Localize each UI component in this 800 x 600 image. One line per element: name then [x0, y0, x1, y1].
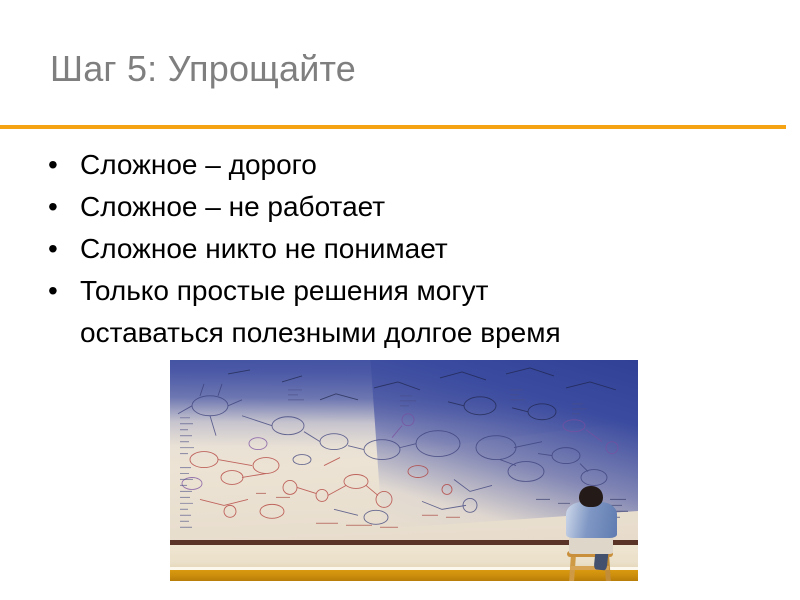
- list-item-label-line2: оставаться полезными долгое время: [80, 312, 746, 354]
- person-head: [579, 486, 603, 507]
- list-item-label: Сложное никто не понимает: [80, 228, 746, 270]
- person-shirt: [566, 502, 617, 538]
- bullet-marker-icon: •: [48, 270, 58, 312]
- page-title: Шаг 5: Упрощайте: [50, 47, 770, 91]
- list-item-label: Сложное – дорого: [80, 144, 746, 186]
- slide: Шаг 5: Упрощайте • Сложное – дорого • Сл…: [0, 0, 800, 600]
- bullet-list: • Сложное – дорого • Сложное – не работа…: [46, 144, 746, 354]
- title-divider-rule: [0, 125, 786, 129]
- list-item-label: Сложное – не работает: [80, 186, 746, 228]
- list-item-label: Только простые решения могут оставаться …: [80, 270, 746, 354]
- bullet-marker-icon: •: [48, 144, 58, 186]
- seated-person: [561, 486, 622, 581]
- list-item: • Сложное – не работает: [46, 186, 746, 228]
- list-item-label-line1: Только простые решения могут: [80, 275, 488, 306]
- bullet-marker-icon: •: [48, 186, 58, 228]
- list-item: • Сложное – дорого: [46, 144, 746, 186]
- list-item: • Только простые решения могут оставатьс…: [46, 270, 746, 354]
- bullet-marker-icon: •: [48, 228, 58, 270]
- whiteboard-photo: [170, 360, 638, 581]
- list-item: • Сложное никто не понимает: [46, 228, 746, 270]
